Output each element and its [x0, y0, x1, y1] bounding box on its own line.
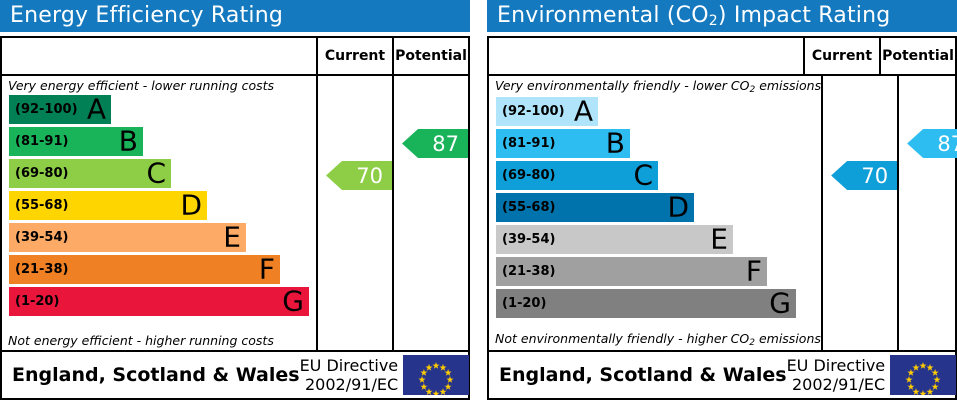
co2-footer-region: England, Scotland & Wales	[489, 352, 787, 398]
energy-chart-footer: England, Scotland & Wales EU Directive 2…	[2, 350, 468, 398]
co2-band-e-range: (39-54)	[496, 233, 555, 246]
energy-chart-table: Current Potential Very energy efficient …	[0, 36, 470, 400]
co2-current-value: 70	[861, 164, 888, 188]
co2-caption-top: Very environmentally friendly - lower CO…	[489, 76, 821, 97]
energy-band-list: (92-100) A (81-91) B (69-80) C (55-68)	[2, 95, 316, 332]
energy-header-blank-cell	[2, 38, 318, 74]
eu-stars-icon	[890, 355, 956, 395]
co2-table-body-row: Very environmentally friendly - lower CO…	[489, 76, 955, 350]
co2-caption-top-prefix: Very environmentally friendly - lower CO	[495, 78, 749, 93]
co2-band-c-letter: C	[633, 161, 653, 189]
co2-chart-table: Current Potential Very environmentally f…	[487, 36, 957, 400]
co2-band-e-letter: E	[710, 225, 728, 253]
energy-band-c-range: (69-80)	[9, 167, 68, 180]
co2-band-c: (69-80) C	[496, 161, 658, 190]
energy-footer-directive: EU Directive 2002/91/EC	[300, 352, 404, 398]
energy-header-current: Current	[318, 38, 394, 74]
co2-caption-bottom-subscript: 2	[749, 338, 755, 348]
energy-band-b: (81-91) B	[9, 127, 143, 156]
co2-band-b: (81-91) B	[496, 129, 630, 158]
energy-band-a-letter: A	[87, 95, 106, 123]
co2-band-f-letter: F	[746, 257, 762, 285]
co2-band-g-range: (1-20)	[496, 297, 546, 310]
co2-chart-title-prefix: Environmental (CO	[497, 3, 709, 28]
co2-impact-rating-chart: Environmental (CO2) Impact Rating Curren…	[487, 0, 957, 404]
energy-band-e-letter: E	[223, 223, 241, 251]
co2-header-potential: Potential	[881, 38, 955, 74]
energy-band-c: (69-80) C	[9, 159, 171, 188]
energy-band-f-range: (21-38)	[9, 263, 68, 276]
co2-footer-directive: EU Directive 2002/91/EC	[787, 352, 891, 398]
co2-band-a: (92-100) A	[496, 97, 598, 126]
co2-caption-bottom: Not environmentally friendly - higher CO…	[489, 330, 821, 350]
eu-flag-icon	[403, 355, 469, 395]
epc-charts-page: Energy Efficiency Rating Current Potenti…	[0, 0, 957, 404]
co2-caption-bottom-prefix: Not environmentally friendly - higher CO	[495, 331, 749, 346]
energy-table-body-row: Very energy efficient - lower running co…	[2, 76, 468, 350]
energy-footer-region: England, Scotland & Wales	[2, 352, 300, 398]
energy-footer-directive-line2: 2002/91/EC	[305, 375, 398, 394]
energy-band-c-letter: C	[146, 159, 166, 187]
energy-band-g-range: (1-20)	[9, 295, 59, 308]
energy-band-d-letter: D	[180, 191, 202, 219]
co2-table-header-row: Current Potential	[489, 38, 955, 76]
energy-band-f-letter: F	[259, 255, 275, 283]
co2-band-f-range: (21-38)	[496, 265, 555, 278]
co2-caption-bottom-suffix: emissions	[755, 331, 821, 346]
co2-band-g-letter: G	[769, 289, 791, 317]
energy-caption-bottom: Not energy efficient - higher running co…	[2, 332, 316, 350]
co2-band-d-letter: D	[667, 193, 689, 221]
energy-efficiency-rating-chart: Energy Efficiency Rating Current Potenti…	[0, 0, 470, 404]
energy-potential-value: 87	[432, 132, 459, 156]
energy-chart-title: Energy Efficiency Rating	[0, 0, 470, 32]
energy-band-d-range: (55-68)	[9, 199, 68, 212]
co2-band-f: (21-38) F	[496, 257, 767, 286]
co2-band-d: (55-68) D	[496, 193, 694, 222]
energy-potential-arrow: 87	[402, 129, 468, 158]
co2-band-g: (1-20) G	[496, 289, 796, 318]
energy-current-column: 70	[318, 76, 394, 350]
co2-current-arrow: 70	[831, 161, 897, 190]
co2-chart-title-suffix: ) Impact Rating	[718, 3, 891, 28]
energy-band-g: (1-20) G	[9, 287, 309, 316]
co2-band-b-letter: B	[606, 129, 625, 157]
co2-chart-title: Environmental (CO2) Impact Rating	[487, 0, 957, 32]
co2-header-current: Current	[805, 38, 881, 74]
co2-caption-top-suffix: emissions	[755, 78, 821, 93]
energy-table-header-row: Current Potential	[2, 38, 468, 76]
co2-chart-footer: England, Scotland & Wales EU Directive 2…	[489, 350, 955, 398]
energy-current-arrow: 70	[326, 161, 392, 190]
co2-footer-directive-line1: EU Directive	[787, 356, 886, 375]
energy-current-value: 70	[356, 164, 383, 188]
energy-band-f: (21-38) F	[9, 255, 280, 284]
energy-bands-column: Very energy efficient - lower running co…	[2, 76, 318, 350]
energy-band-e-range: (39-54)	[9, 231, 68, 244]
co2-caption-top-subscript: 2	[749, 85, 755, 95]
co2-band-a-range: (92-100)	[496, 105, 565, 118]
co2-footer-directive-line2: 2002/91/EC	[792, 375, 885, 394]
co2-band-a-letter: A	[574, 97, 593, 125]
co2-band-b-range: (81-91)	[496, 137, 555, 150]
energy-band-d: (55-68) D	[9, 191, 207, 220]
energy-band-e: (39-54) E	[9, 223, 246, 252]
energy-header-potential: Potential	[394, 38, 468, 74]
co2-band-e: (39-54) E	[496, 225, 733, 254]
co2-potential-arrow: 87	[907, 129, 957, 158]
energy-chart-title-text: Energy Efficiency Rating	[10, 3, 283, 28]
co2-header-blank-cell	[489, 38, 805, 74]
co2-current-column: 70	[823, 76, 899, 350]
co2-band-d-range: (55-68)	[496, 201, 555, 214]
eu-flag-icon	[890, 355, 956, 395]
energy-footer-directive-line1: EU Directive	[300, 356, 399, 375]
energy-caption-top: Very energy efficient - lower running co…	[2, 76, 316, 95]
energy-potential-column: 87	[394, 76, 468, 350]
co2-potential-value: 87	[937, 132, 957, 156]
eu-stars-icon	[403, 355, 469, 395]
energy-band-g-letter: G	[282, 287, 304, 315]
energy-band-a-range: (92-100)	[9, 103, 78, 116]
co2-band-list: (92-100) A (81-91) B (69-80) C (55-68)	[489, 97, 821, 330]
energy-band-a: (92-100) A	[9, 95, 111, 124]
co2-chart-title-subscript: 2	[709, 13, 718, 29]
energy-band-b-range: (81-91)	[9, 135, 68, 148]
energy-band-b-letter: B	[119, 127, 138, 155]
co2-potential-column: 87	[899, 76, 957, 350]
co2-bands-column: Very environmentally friendly - lower CO…	[489, 76, 823, 350]
co2-band-c-range: (69-80)	[496, 169, 555, 182]
